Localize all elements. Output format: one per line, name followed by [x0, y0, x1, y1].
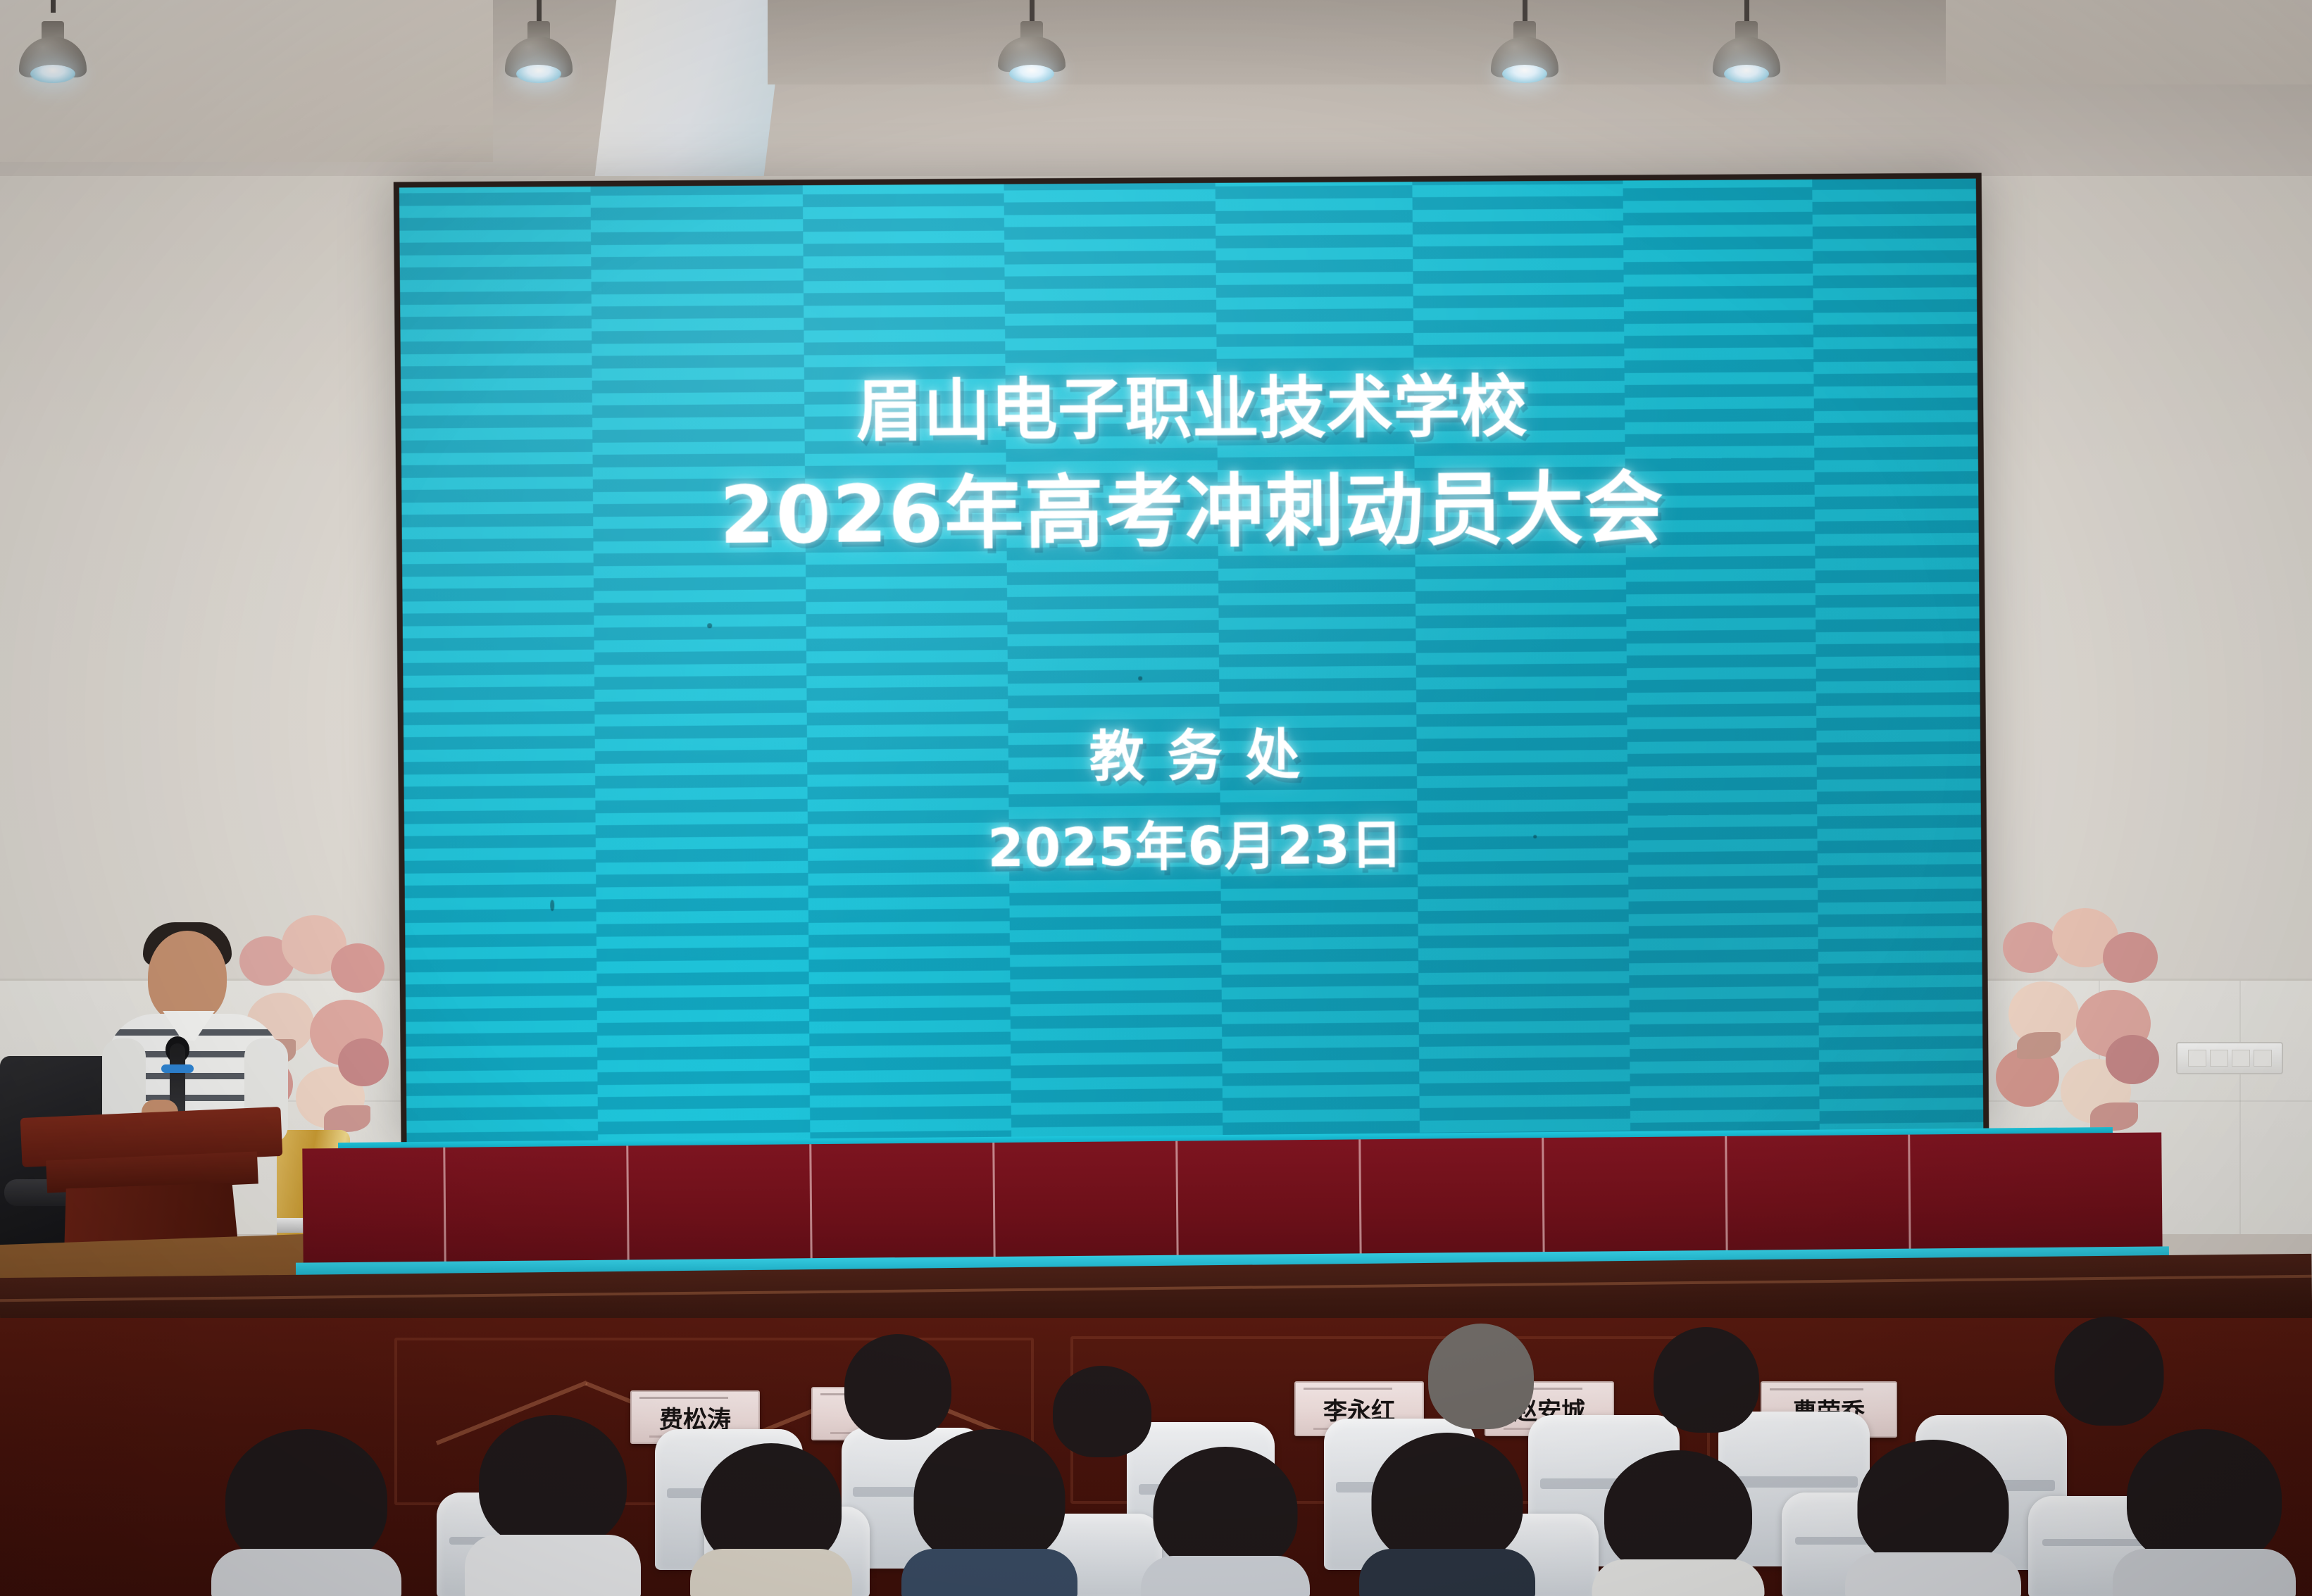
audience-member: [1141, 1447, 1310, 1596]
ceiling-soffit-strip: [595, 0, 786, 176]
screen-line-date: 2025年6月23日: [987, 819, 1403, 874]
audience-member: [2042, 1317, 2176, 1443]
audience-member: [901, 1429, 1077, 1596]
audience-member: [1845, 1440, 2021, 1596]
audience-member: [690, 1443, 852, 1596]
screen-line-school: 眉山电子职业技术学校: [856, 375, 1527, 446]
auditorium-photo: 眉山电子职业技术学校 2026年高考冲刺动员大会 教务处 2025年6月23日: [0, 0, 2312, 1596]
audience-member: [1592, 1450, 1764, 1596]
audience-member: [1641, 1327, 1771, 1450]
screen-bezel: 眉山电子职业技术学校 2026年高考冲刺动员大会 教务处 2025年6月23日: [394, 173, 1989, 1150]
light-switch-icon[interactable]: [2176, 1042, 2283, 1074]
screen-line-department: 教务处: [1066, 729, 1324, 786]
audience-member: [465, 1415, 641, 1596]
screen-content: 眉山电子职业技术学校 2026年高考冲刺动员大会 教务处 2025年6月23日: [399, 179, 1983, 1145]
audience-member: [1416, 1324, 1546, 1447]
audience-member: [211, 1429, 401, 1596]
audience-member: [2113, 1429, 2296, 1596]
audience-member: [1359, 1433, 1535, 1596]
ceiling-soffit-right: [1946, 0, 2312, 84]
screen-surface: 眉山电子职业技术学校 2026年高考冲刺动员大会 教务处 2025年6月23日: [399, 179, 1983, 1145]
led-display-screen: 眉山电子职业技术学校 2026年高考冲刺动员大会 教务处 2025年6月23日: [394, 173, 1989, 1150]
ceiling-soffit-left: [0, 0, 493, 162]
screen-line-title: 2026年高考冲刺动员大会: [719, 470, 1664, 555]
